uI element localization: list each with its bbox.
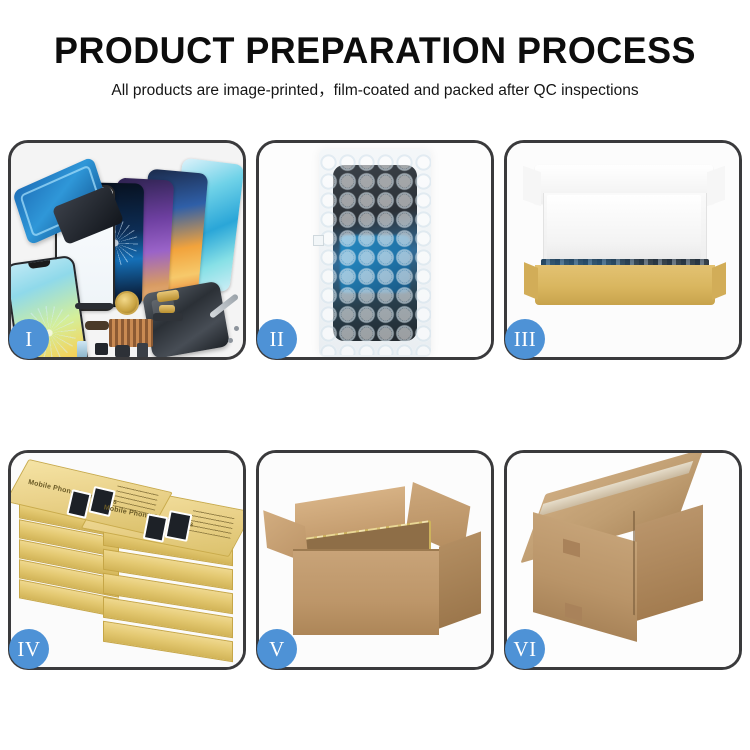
screw-part — [228, 338, 233, 343]
yellow-box-base — [535, 265, 715, 305]
step-image-5 — [259, 453, 491, 667]
chip-part — [137, 343, 148, 357]
step-image-4: Mobile Phone Spare Parts Mobile Phone Sp… — [11, 453, 243, 667]
screw-part — [234, 326, 239, 331]
process-steps-grid: I II III — [8, 140, 742, 670]
page-subtitle: All products are image-printed，film-coat… — [0, 82, 750, 101]
speaker-coil-part — [115, 291, 139, 315]
tape-square — [313, 235, 324, 246]
step-badge-4: IV — [9, 629, 49, 669]
bubble-pattern-rings — [319, 153, 431, 355]
step-panel-3: III — [504, 140, 742, 360]
carton-corner-edge — [633, 511, 635, 616]
step-panel-4: Mobile Phone Spare Parts Mobile Phone Sp… — [8, 450, 246, 670]
chip-part — [115, 345, 130, 357]
carton-side-face — [439, 531, 481, 628]
sealed-carton-scene — [507, 453, 739, 667]
chip-part — [95, 343, 108, 355]
gold-contact-part — [159, 305, 175, 313]
step-panel-6: VI — [504, 450, 742, 670]
open-box-scene — [507, 143, 739, 357]
step-panel-1: I — [8, 140, 246, 360]
step-badge-3: III — [505, 319, 545, 359]
step-image-6 — [507, 453, 739, 667]
carton-right-face — [635, 505, 703, 622]
flex-cable-part — [85, 321, 109, 330]
step-panel-2: II — [256, 140, 494, 360]
step-badge-1: I — [9, 319, 49, 359]
step-panel-5: V — [256, 450, 494, 670]
bubble-wrap-scene — [259, 143, 491, 357]
step-badge-2: II — [257, 319, 297, 359]
step-image-3 — [507, 143, 739, 357]
page-title: PRODUCT PREPARATION PROCESS — [11, 32, 739, 71]
open-carton-scene — [259, 453, 491, 667]
step-badge-5: V — [257, 629, 297, 669]
box-stack: Mobile Phone Spare Parts Mobile Phone Sp… — [17, 467, 243, 663]
page-header: PRODUCT PREPARATION PROCESS All products… — [0, 0, 750, 100]
phone-parts-scene — [11, 143, 243, 357]
camera-module-part — [77, 341, 87, 357]
phone-notch — [28, 260, 51, 269]
stacked-boxes-scene: Mobile Phone Spare Parts Mobile Phone Sp… — [11, 453, 243, 667]
ribbon-cable-part — [75, 303, 113, 309]
step-image-2 — [259, 143, 491, 357]
carton-front-face — [293, 551, 439, 635]
flex-cable-part — [153, 313, 183, 321]
step-badge-6: VI — [505, 629, 545, 669]
white-foam-liner — [547, 195, 701, 265]
step-image-1 — [11, 143, 243, 357]
